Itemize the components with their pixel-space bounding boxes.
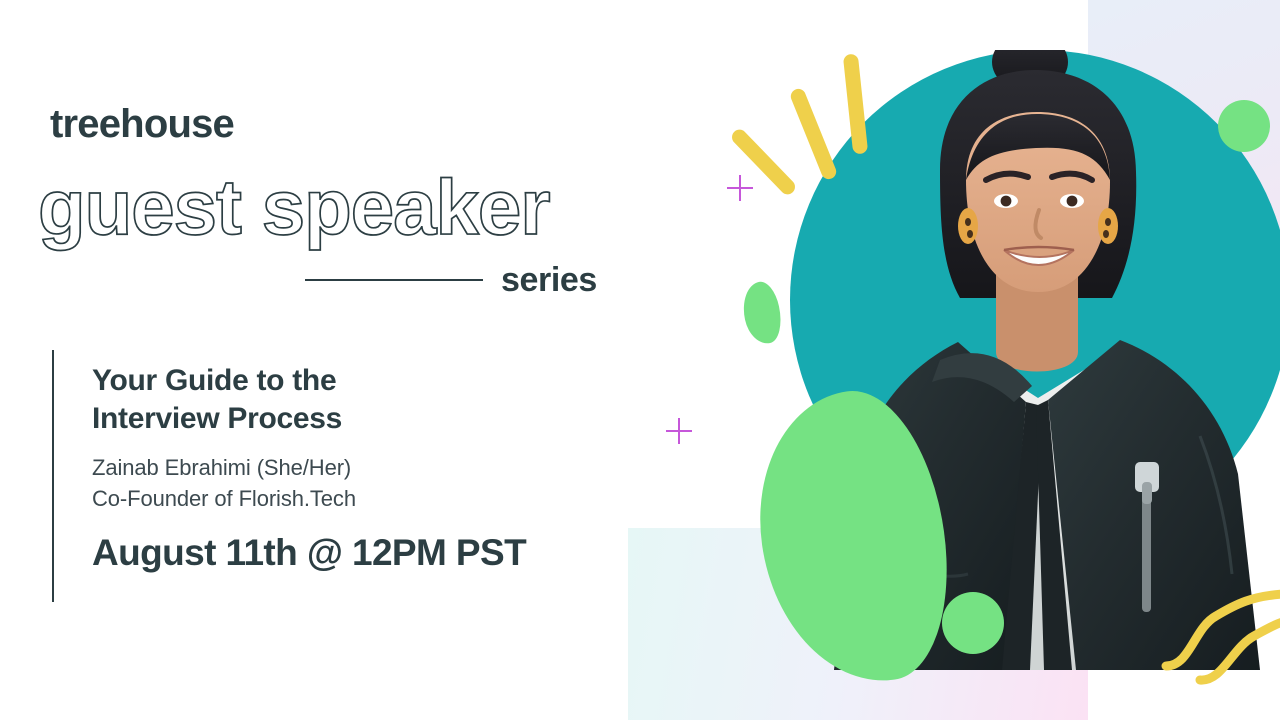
slide-canvas: treehouse guest speaker series Your Guid… (0, 0, 1280, 720)
treehouse-brand-logo: treehouse (50, 104, 234, 144)
magenta-plus-icon-top (727, 175, 753, 201)
talk-title-line-2: Interview Process (92, 400, 612, 438)
series-row: series (305, 258, 625, 302)
speaker-role: Co-Founder of Florish.Tech (92, 484, 612, 515)
talk-title: Your Guide to the Interview Process (92, 362, 612, 439)
hero-headline-outline: guest speaker (38, 160, 678, 250)
yellow-squiggle-lines (1160, 570, 1280, 700)
talk-details-block: Your Guide to the Interview Process Zain… (52, 350, 612, 602)
green-dot-shape (942, 592, 1004, 654)
series-divider-rule (305, 279, 483, 281)
speaker-name: Zainab Ebrahimi (She/Her) (92, 453, 612, 484)
hero-headline-text: guest speaker (38, 163, 550, 251)
talk-title-line-1: Your Guide to the (92, 362, 612, 400)
green-blob-small-shape (738, 279, 786, 347)
magenta-plus-icon-middle (666, 418, 692, 444)
event-datetime: August 11th @ 12PM PST (92, 534, 612, 571)
series-label: series (501, 263, 597, 297)
